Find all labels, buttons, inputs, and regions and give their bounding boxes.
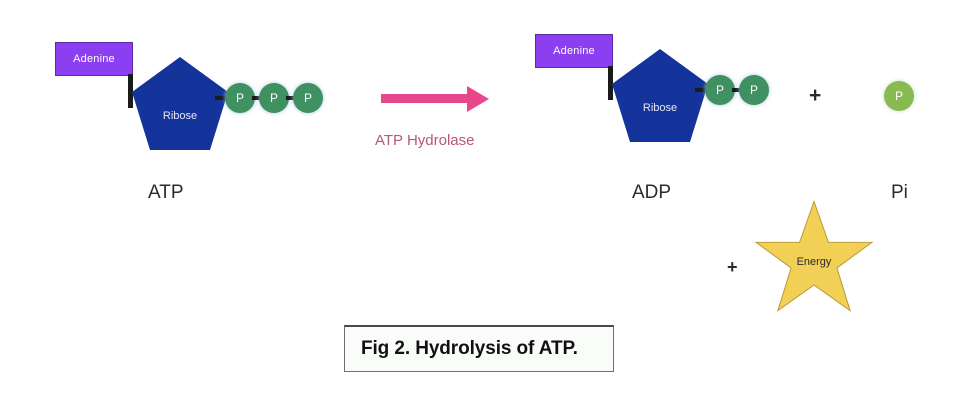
atp-molecule: Adenine Ribose P P P ATP xyxy=(0,0,330,210)
figure-canvas: Adenine Ribose P P P ATP xyxy=(0,0,958,401)
atp-phosphate-1-label: P xyxy=(236,91,244,105)
adp-phosphate-2-label: P xyxy=(750,83,758,97)
adp-adenine-box[interactable]: Adenine xyxy=(535,34,613,68)
adp-molecule: Adenine Ribose P P ADP xyxy=(480,0,810,210)
right-arrow-icon-shaft xyxy=(381,94,471,103)
atp-phosphate-2[interactable]: P xyxy=(259,83,289,113)
adp-name-label: ADP xyxy=(632,182,671,204)
plus-sign-1: + xyxy=(809,85,821,106)
plus-sign-2: + xyxy=(727,258,738,276)
atp-adenine-label: Adenine xyxy=(73,53,115,65)
pi-name-label: Pi xyxy=(891,182,908,204)
energy-star-icon[interactable]: Energy xyxy=(753,199,875,321)
free-phosphate-label: P xyxy=(895,89,903,103)
atp-ribose-pentagon[interactable]: Ribose xyxy=(130,55,230,155)
atp-phosphate-3[interactable]: P xyxy=(293,83,323,113)
adp-phosphate-1-label: P xyxy=(716,83,724,97)
atp-name-label: ATP xyxy=(148,182,184,204)
adp-ribose-pentagon[interactable]: Ribose xyxy=(610,47,710,147)
figure-caption-text: Fig 2. Hydrolysis of ATP. xyxy=(361,338,578,360)
atp-phosphate-2-label: P xyxy=(270,91,278,105)
enzyme-label: ATP Hydrolase xyxy=(375,132,475,149)
atp-phosphate-1[interactable]: P xyxy=(225,83,255,113)
adp-phosphate-1[interactable]: P xyxy=(705,75,735,105)
atp-adenine-box[interactable]: Adenine xyxy=(55,42,133,76)
adp-adenine-label: Adenine xyxy=(553,45,595,57)
atp-phosphate-3-label: P xyxy=(304,91,312,105)
free-phosphate-circle[interactable]: P xyxy=(884,81,914,111)
adp-phosphate-2[interactable]: P xyxy=(739,75,769,105)
figure-caption-box: Fig 2. Hydrolysis of ATP. xyxy=(344,325,614,372)
